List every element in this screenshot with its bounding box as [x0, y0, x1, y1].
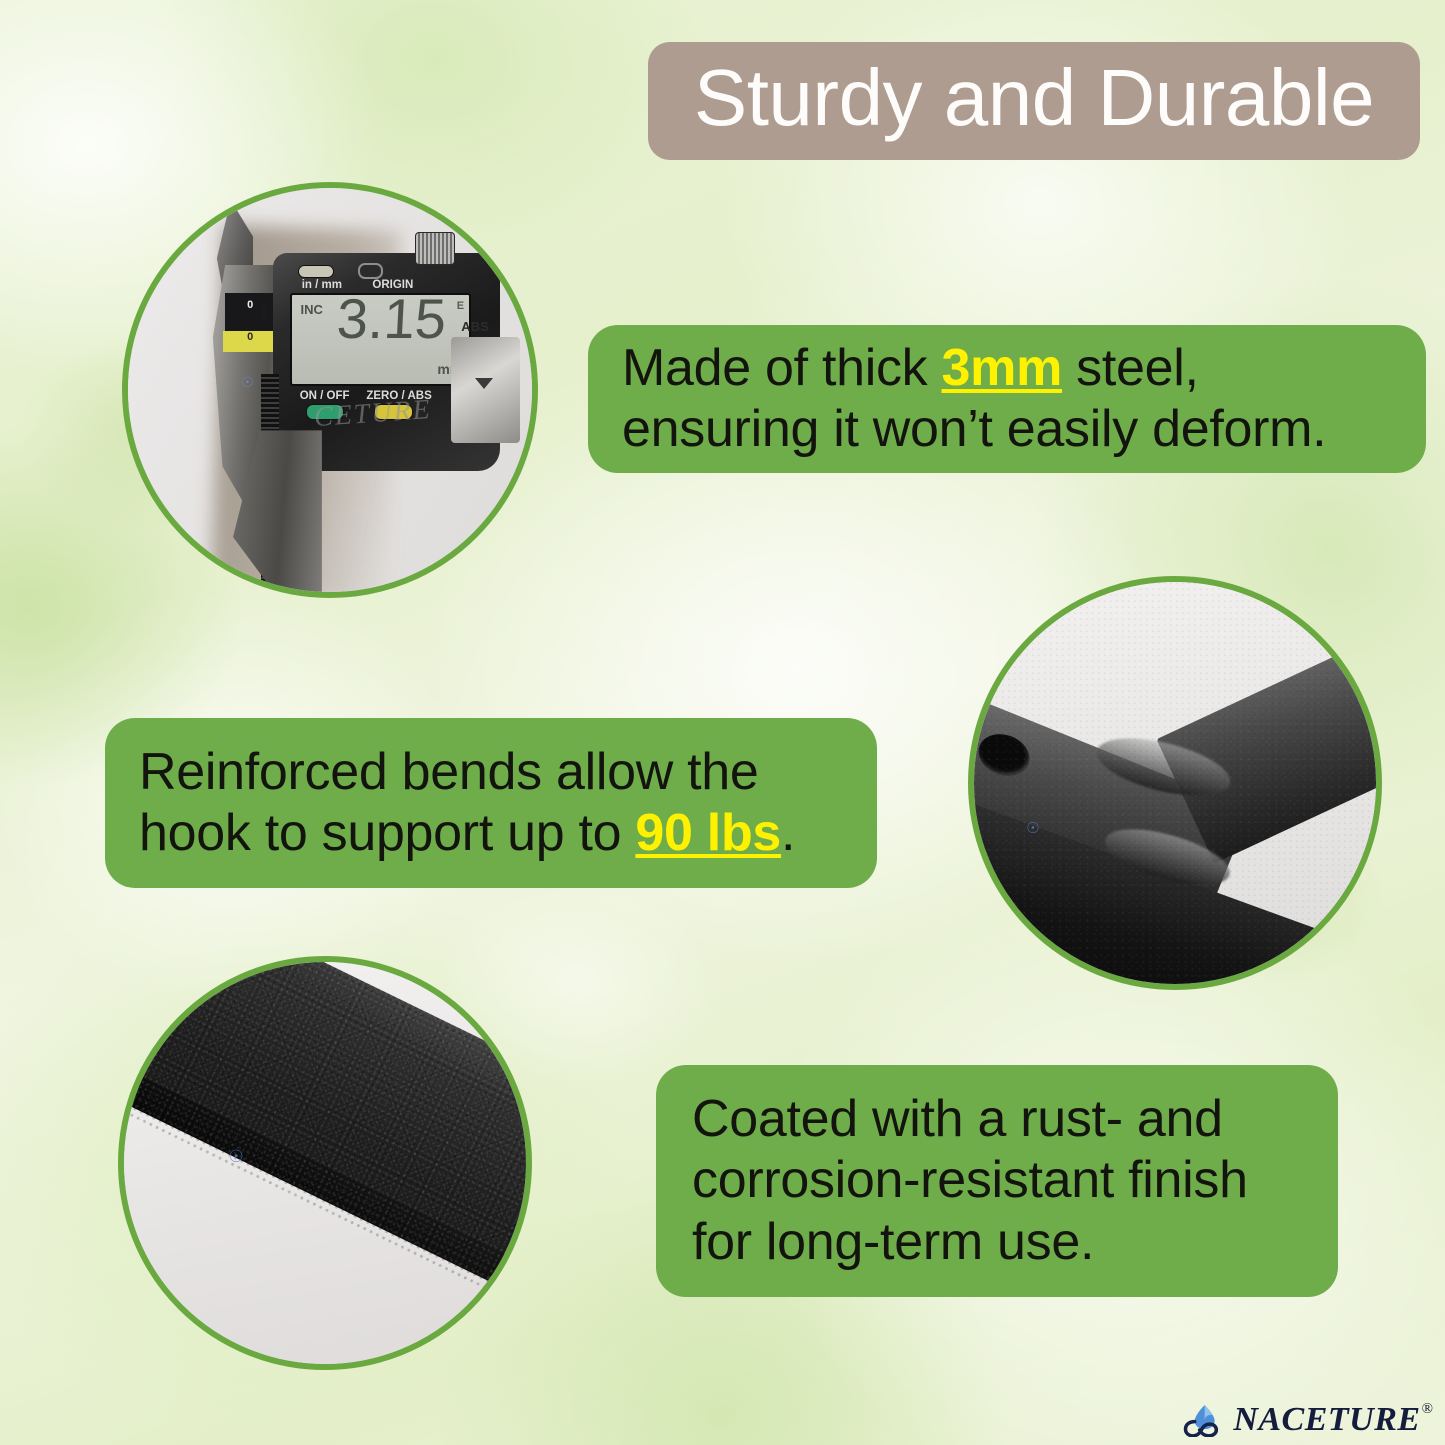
callout-capacity-line-2: hook to support up to 90 lbs.	[139, 803, 847, 864]
bend-surface-texture	[974, 582, 1376, 984]
caliper-arrow-icon	[475, 378, 493, 389]
caliper-scale-zero-top: 0	[247, 299, 253, 311]
lcd-battery-flag: E	[457, 300, 464, 312]
caliper-top-button-left	[298, 265, 334, 279]
callout-thickness-highlight: 3mm	[942, 339, 1063, 397]
callout-capacity-line-2-pre: hook to support up to	[139, 804, 635, 862]
callout-capacity-highlight: 90 lbs	[635, 804, 781, 862]
caliper-tick-mark	[263, 305, 265, 319]
caliper-abs-plate	[451, 337, 520, 442]
lcd-mode-indicator: INC	[300, 302, 322, 317]
callout-capacity-line-2-post: .	[781, 804, 795, 862]
callout-coating-line-1: Coated with a rust- and	[692, 1089, 1310, 1150]
callout-coating-line-2: corrosion-resistant finish	[692, 1150, 1310, 1211]
caliper-scale-zero-bottom: 0	[247, 331, 253, 343]
page-title-banner: Sturdy and Durable	[648, 42, 1420, 160]
coating-product-logo-mark: ☉	[229, 1147, 244, 1167]
photo-reinforced-bend: ☉	[968, 576, 1382, 990]
caliper-label-abs: ABS	[461, 319, 488, 334]
callout-coating: Coated with a rust- and corrosion-resist…	[656, 1065, 1338, 1297]
callout-coating-line-3: for long-term use.	[692, 1212, 1310, 1273]
bend-product-logo-mark: ☉	[1026, 819, 1039, 837]
caliper-thumbwheel	[415, 232, 455, 264]
caliper-label-origin: ORIGIN	[372, 279, 413, 291]
naceture-droplet-icon	[1183, 1403, 1223, 1437]
brand-logo: NACETURE ®	[1183, 1401, 1433, 1439]
registered-trademark-icon: ®	[1422, 1401, 1433, 1418]
callout-thickness-line-1-pre: Made of thick	[622, 339, 942, 397]
caliper-product-logo-mark: ☉	[241, 374, 254, 391]
caliper-label-in-mm: in / mm	[302, 279, 342, 291]
photo-caliper-measurement: 0 0 ☉ in / mm ORIGIN INC 3.15 mm E ON / …	[122, 182, 538, 598]
caliper-top-button-right	[358, 263, 382, 279]
callout-thickness: Made of thick 3mm steel, ensuring it won…	[588, 325, 1426, 473]
lcd-measurement-value: 3.15	[336, 293, 448, 347]
callout-thickness-line-1: Made of thick 3mm steel,	[622, 338, 1396, 399]
brand-name: NACETURE	[1233, 1401, 1420, 1439]
page-title: Sturdy and Durable	[694, 58, 1374, 138]
callout-capacity-line-1: Reinforced bends allow the	[139, 742, 847, 803]
callout-thickness-line-2: ensuring it won’t easily deform.	[622, 399, 1396, 460]
photo-rust-resistant-coating: ☉	[118, 956, 532, 1370]
caliper-lcd-display: INC 3.15 mm E	[290, 293, 472, 386]
callout-thickness-line-1-post: steel,	[1062, 339, 1199, 397]
callout-capacity: Reinforced bends allow the hook to suppo…	[105, 718, 877, 888]
